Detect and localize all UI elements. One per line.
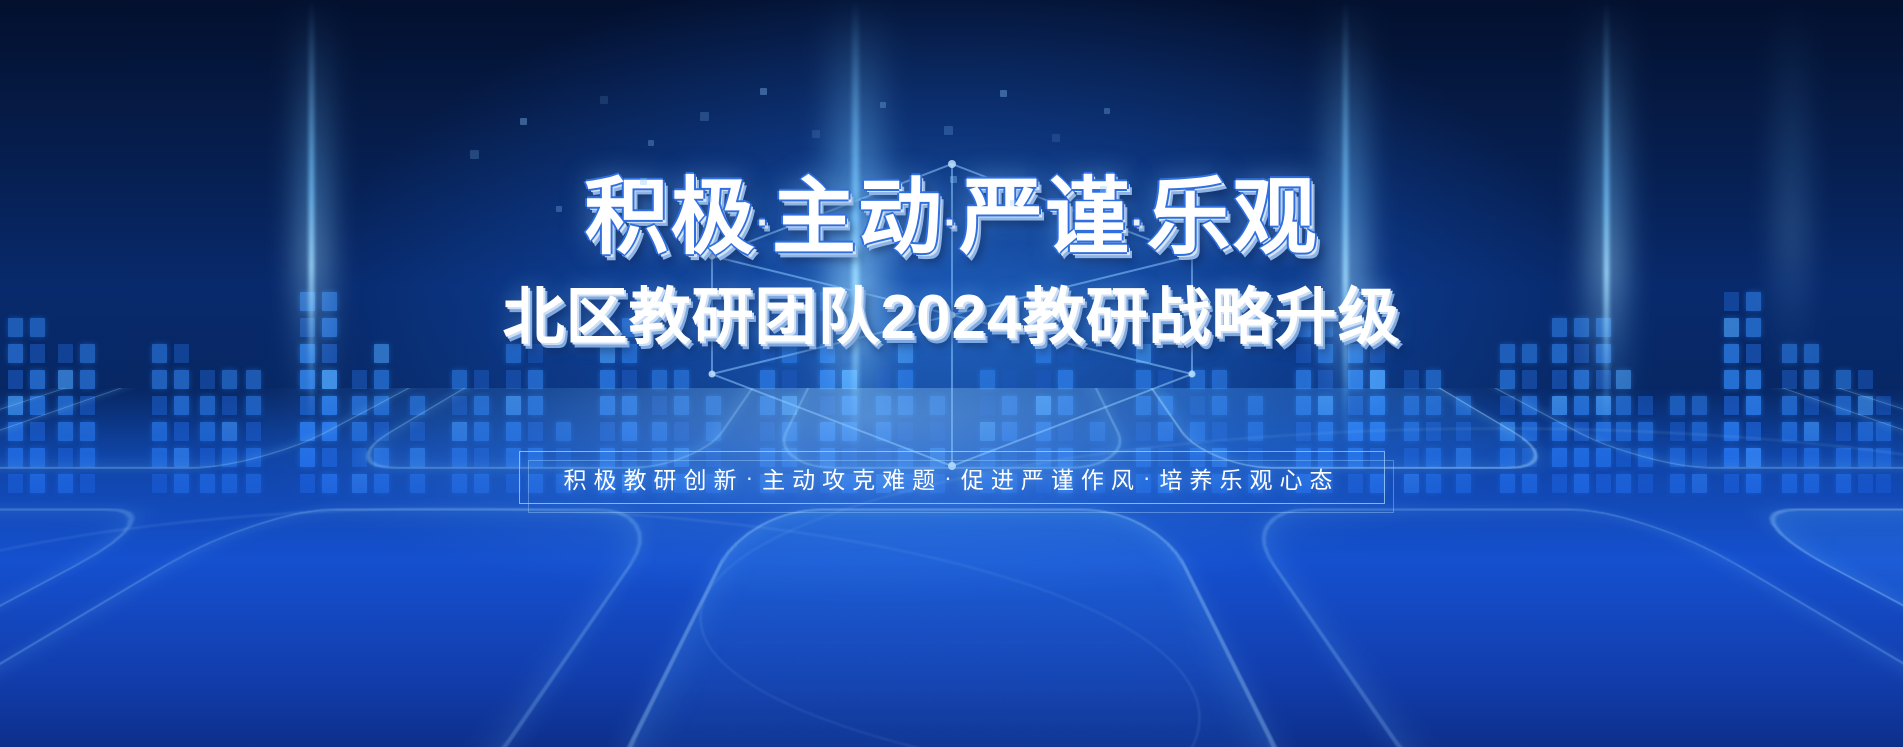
banner-content: 积极·主动·严谨·乐观 北区教研团队2024教研战略升级 积极教研创新·主动攻克… [0, 0, 1903, 747]
title-part-3: 严谨 [959, 170, 1131, 264]
tagline-separator: · [1141, 464, 1160, 491]
title-part-1: 积极 [584, 170, 756, 264]
tagline-item-3: 促进严谨作风 [961, 461, 1141, 495]
page-title: 积极·主动·严谨·乐观 [0, 172, 1903, 263]
banner-root: 积极·主动·严谨·乐观 北区教研团队2024教研战略升级 积极教研创新·主动攻克… [0, 0, 1903, 747]
tagline-item-4: 培养乐观心态 [1160, 461, 1340, 495]
page-subtitle: 北区教研团队2024教研战略升级 [0, 266, 1903, 356]
tagline-item-2: 主动攻克难题 [762, 461, 942, 495]
title-part-4: 乐观 [1147, 170, 1319, 264]
title-separator: · [944, 201, 959, 245]
tagline-frame: 积极教研创新·主动攻克难题·促进严谨作风·培养乐观心态 [519, 451, 1385, 504]
title-part-2: 主动 [772, 170, 944, 264]
tagline-item-1: 积极教研创新 [563, 461, 743, 495]
tagline-separator: · [743, 464, 762, 491]
title-separator: · [1131, 201, 1146, 245]
tagline-separator: · [942, 464, 961, 491]
tagline-text: 积极教研创新·主动攻克难题·促进严谨作风·培养乐观心态 [519, 451, 1385, 504]
title-separator: · [756, 201, 771, 245]
